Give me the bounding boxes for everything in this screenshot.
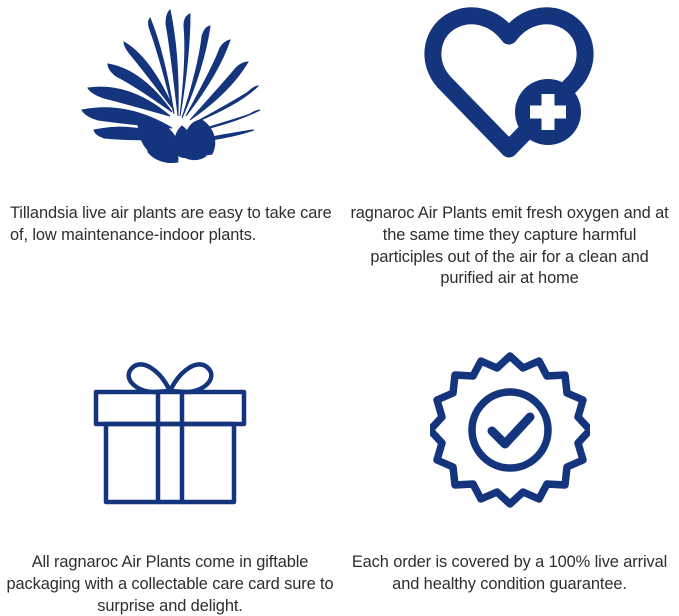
feature-text: Each order is covered by a 100% live arr… [344, 552, 675, 596]
feature-grid: Tillandsia live air plants are easy to t… [0, 0, 679, 616]
feature-text: Tillandsia live air plants are easy to t… [4, 203, 336, 247]
feature-text: ragnaroc Air Plants emit fresh oxygen an… [344, 203, 675, 290]
gift-box-icon [84, 350, 256, 510]
feature-text: All ragnaroc Air Plants come in giftable… [4, 552, 336, 616]
feature-cell-gift-box: All ragnaroc Air Plants come in giftable… [0, 308, 340, 616]
check-icon [492, 417, 530, 444]
feature-cell-heart-plus: ragnaroc Air Plants emit fresh oxygen an… [340, 0, 679, 308]
gift-body [106, 424, 234, 502]
bow-left-loop [129, 364, 170, 392]
bow-right-loop [170, 364, 211, 392]
gift-lid [96, 392, 244, 424]
feature-cell-verified-badge: Each order is covered by a 100% live arr… [340, 308, 679, 616]
air-plant-icon [78, 6, 263, 166]
badge-rosette [430, 356, 590, 504]
verified-badge-icon [430, 350, 590, 510]
feature-cell-air-plant: Tillandsia live air plants are easy to t… [0, 0, 340, 308]
badge-inner-circle [472, 392, 548, 468]
heart-plus-icon [422, 6, 597, 166]
